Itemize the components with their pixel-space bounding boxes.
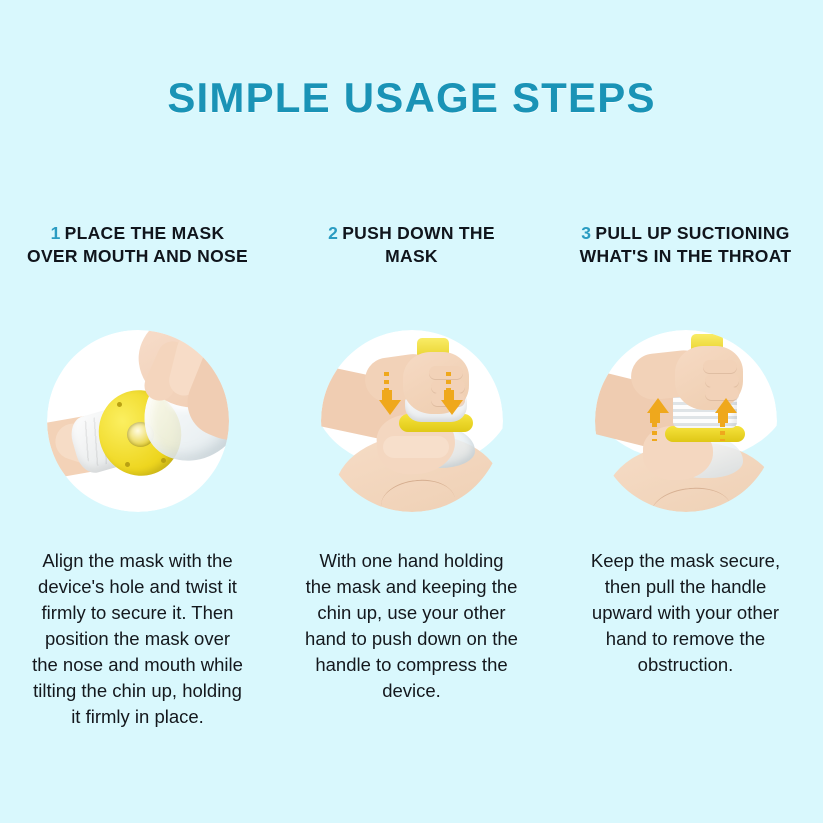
steps-heading-row: 1PLACE THE MASK OVER MOUTH AND NOSE xyxy=(0,222,823,512)
device-screw-icon xyxy=(117,402,122,407)
step-1-image-inner xyxy=(47,330,229,512)
finger xyxy=(705,374,739,387)
step-2-heading-line1: PUSH DOWN THE xyxy=(342,223,495,243)
device-screw-icon xyxy=(125,462,130,467)
fingers-left xyxy=(383,436,449,458)
step-2-body-column: With one hand holding the mask and keepi… xyxy=(275,548,549,704)
arrow-down-icon xyxy=(379,372,395,415)
infographic-page: SIMPLE USAGE STEPS 1PLACE THE MASK OVER … xyxy=(0,0,823,823)
step-3-image-inner xyxy=(595,330,777,512)
step-1-heading-line1: PLACE THE MASK xyxy=(65,223,225,243)
step-3-heading-line2: WHAT'S IN THE THROAT xyxy=(580,246,792,266)
arrow-up-icon xyxy=(647,398,663,441)
step-3-image xyxy=(595,330,777,512)
steps-body-row: Align the mask with the device's hole an… xyxy=(0,548,823,731)
step-1-body-text: Align the mask with the device's hole an… xyxy=(31,548,245,731)
device-yellow-rim xyxy=(665,426,745,442)
step-1-body-column: Align the mask with the device's hole an… xyxy=(1,548,275,731)
step-column-3: 3PULL UP SUCTIONING WHAT'S IN THE THROAT xyxy=(549,222,823,512)
step-1-number: 1 xyxy=(51,223,61,243)
step-2-body-text: With one hand holding the mask and keepi… xyxy=(305,548,519,704)
step-column-2: 2PUSH DOWN THE MASK xyxy=(275,222,549,512)
finger xyxy=(703,360,737,373)
step-2-heading: 2PUSH DOWN THE MASK xyxy=(286,222,538,268)
step-3-heading-line1: PULL UP SUCTIONING xyxy=(595,223,789,243)
step-column-1: 1PLACE THE MASK OVER MOUTH AND NOSE xyxy=(1,222,275,512)
step-2-number: 2 xyxy=(328,223,338,243)
arrow-up-icon xyxy=(715,398,731,441)
step-2-heading-line2: MASK xyxy=(385,246,438,266)
step-2-image-inner xyxy=(321,330,503,512)
step-2-image xyxy=(321,330,503,512)
step-1-heading: 1PLACE THE MASK OVER MOUTH AND NOSE xyxy=(12,222,264,268)
step-1-heading-line2: OVER MOUTH AND NOSE xyxy=(27,246,248,266)
step-3-body-column: Keep the mask secure, then pull the hand… xyxy=(549,548,823,678)
step-3-body-text: Keep the mask secure, then pull the hand… xyxy=(579,548,793,678)
step-3-number: 3 xyxy=(581,223,591,243)
device-screw-icon xyxy=(161,458,166,463)
page-title: SIMPLE USAGE STEPS xyxy=(0,74,823,122)
arrow-down-icon xyxy=(441,372,457,415)
step-3-heading: 3PULL UP SUCTIONING WHAT'S IN THE THROAT xyxy=(560,222,812,268)
step-1-image xyxy=(47,330,229,512)
